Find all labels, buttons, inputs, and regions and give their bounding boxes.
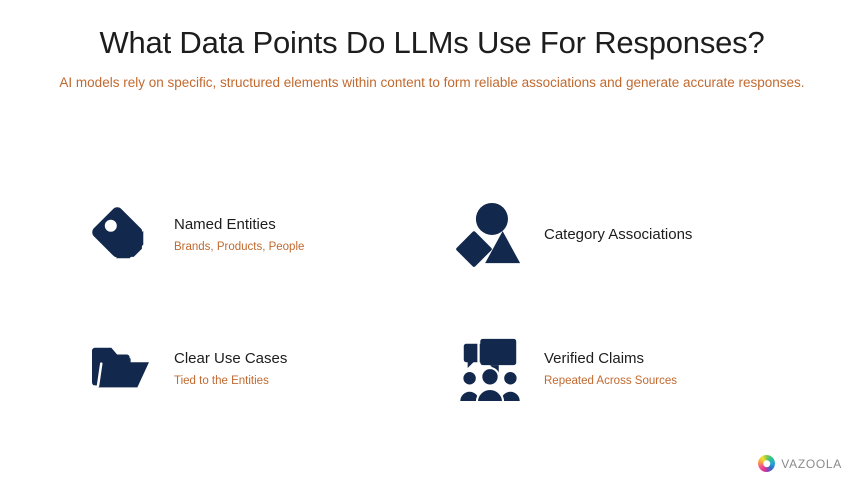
slide-canvas: What Data Points Do LLMs Use For Respons… [0, 0, 864, 486]
feature-title: Verified Claims [544, 349, 677, 369]
feature-text-block: Verified Claims Repeated Across Sources [544, 349, 677, 389]
shapes-icon [454, 199, 526, 271]
people-speech-icon [454, 333, 526, 405]
feature-title: Named Entities [174, 215, 304, 235]
feature-text-block: Clear Use Cases Tied to the Entities [174, 349, 287, 389]
vazoola-wordmark: VAZOOLA [781, 457, 842, 471]
feature-text-block: Category Associations [544, 225, 692, 245]
feature-item-category-associations: Category Associations [454, 168, 784, 302]
tag-icon [84, 199, 156, 271]
feature-subtitle: Brands, Products, People [174, 240, 304, 255]
slide-header: What Data Points Do LLMs Use For Respons… [0, 24, 864, 94]
people-group [460, 368, 519, 402]
feature-item-clear-use-cases: Clear Use Cases Tied to the Entities [84, 302, 454, 436]
feature-subtitle: Tied to the Entities [174, 374, 287, 389]
feature-title: Clear Use Cases [174, 349, 287, 369]
page-subtitle: AI models rely on specific, structured e… [18, 72, 846, 94]
feature-item-verified-claims: Verified Claims Repeated Across Sources [454, 302, 784, 436]
folder-icon [84, 333, 156, 405]
feature-grid: Named Entities Brands, Products, People … [84, 168, 784, 436]
feature-subtitle: Repeated Across Sources [544, 374, 677, 389]
vazoola-logo: VAZOOLA [758, 455, 842, 472]
vazoola-circle-logo-icon [758, 455, 775, 472]
speech-bubble-large [479, 337, 518, 374]
feature-title: Category Associations [544, 225, 692, 245]
feature-text-block: Named Entities Brands, Products, People [174, 215, 304, 255]
circle-shape [476, 203, 508, 235]
feature-item-named-entities: Named Entities Brands, Products, People [84, 168, 454, 302]
page-title: What Data Points Do LLMs Use For Respons… [0, 24, 864, 62]
